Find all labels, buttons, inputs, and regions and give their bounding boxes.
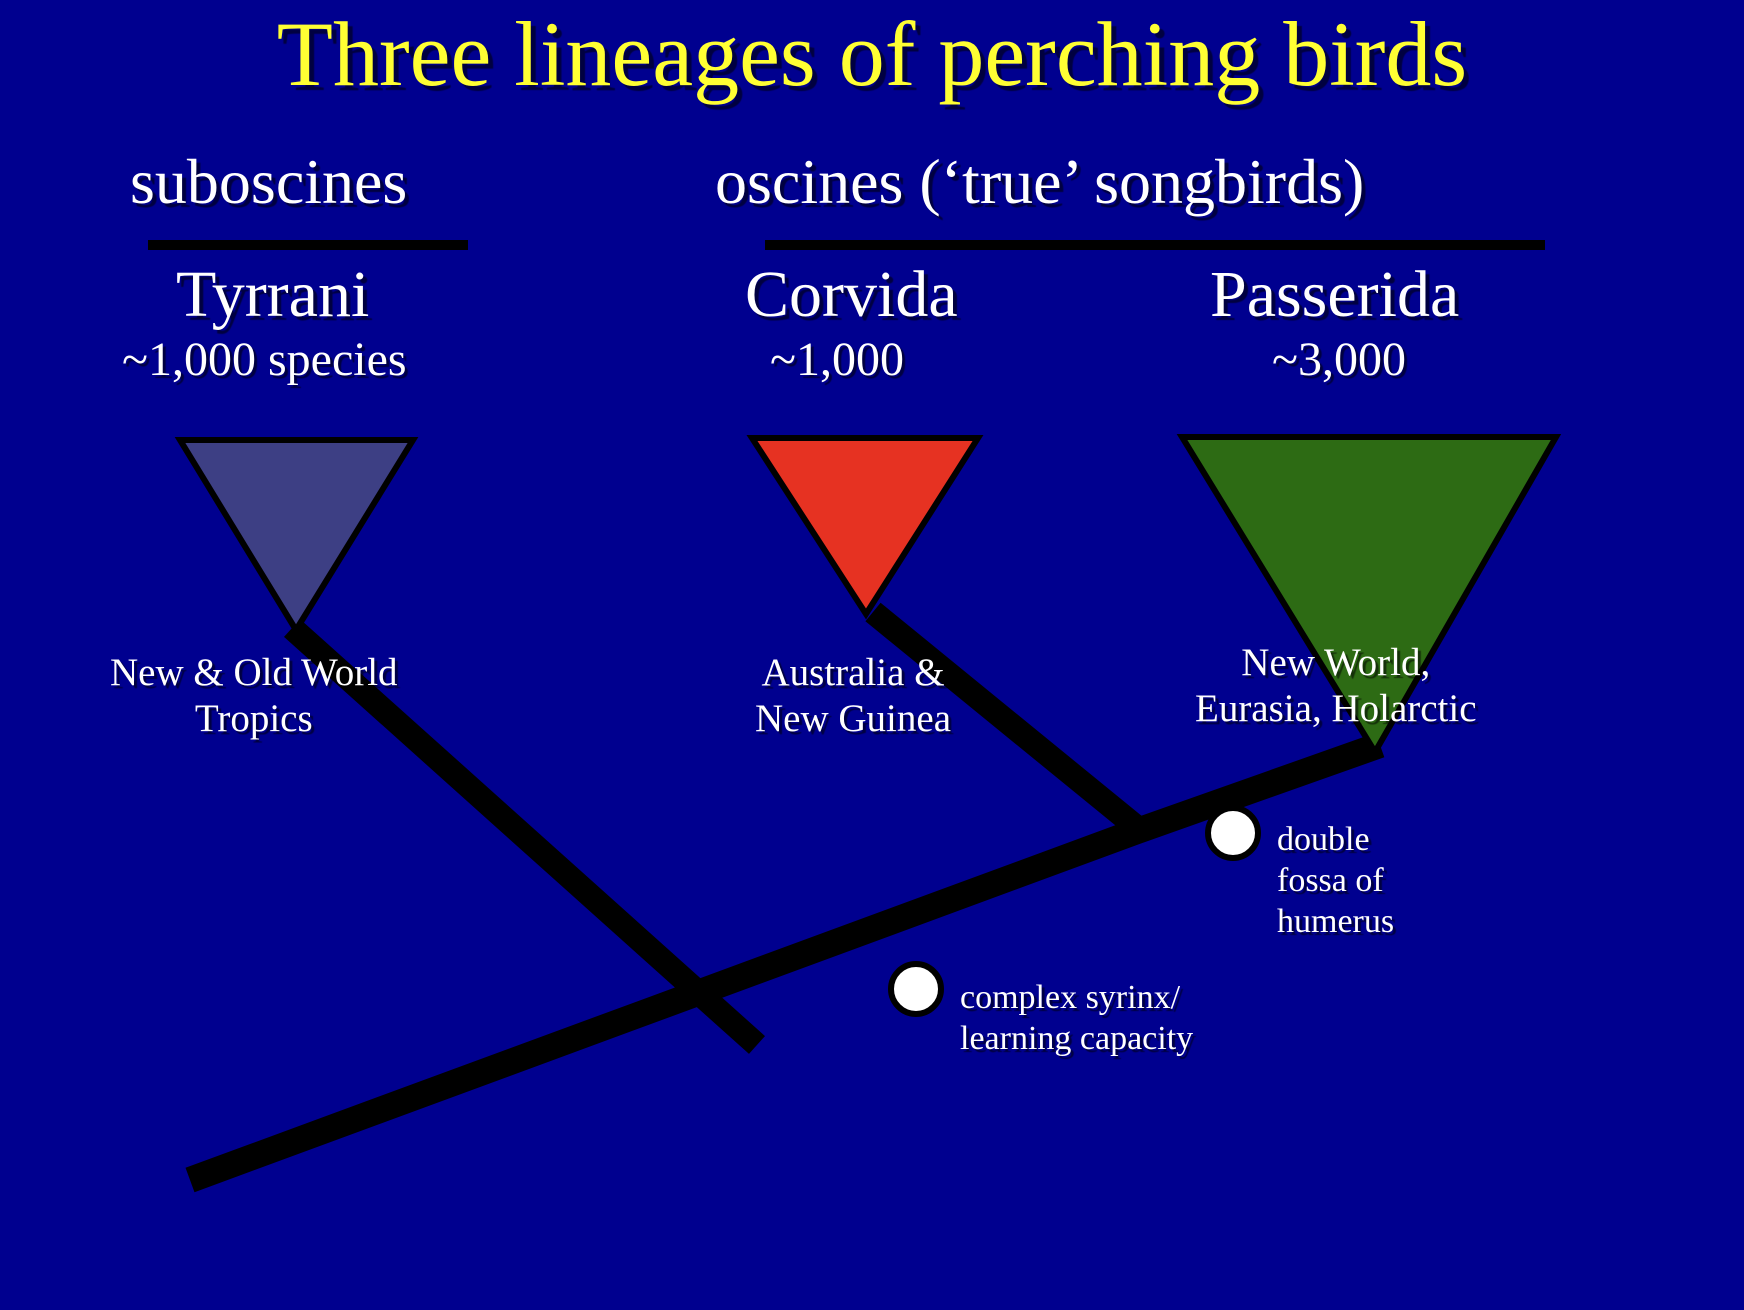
- region-line: Eurasia, Holarctic: [1195, 686, 1477, 732]
- node-annotation-humerus: double fossa of humerus: [1277, 820, 1394, 942]
- region-label-passerida: New World, Eurasia, Holarctic: [1195, 640, 1477, 732]
- clade-triangle-corvida: [752, 438, 978, 614]
- node-annotation-line: learning capacity: [960, 1019, 1193, 1060]
- clade-count-passerida: ~3,000: [1272, 336, 1406, 384]
- node-marker-humerus: [1208, 808, 1258, 858]
- region-line: New World,: [1195, 640, 1477, 686]
- region-line: New Guinea: [755, 696, 951, 742]
- clade-name-tyrrani: Tyrrani: [176, 262, 369, 328]
- node-annotation-line: humerus: [1277, 902, 1394, 943]
- clade-name-passerida: Passerida: [1210, 262, 1459, 328]
- region-line: New & Old World: [110, 650, 398, 696]
- node-annotation-line: double: [1277, 820, 1394, 861]
- region-label-tyrrani: New & Old World Tropics: [110, 650, 398, 742]
- clade-triangle-tyrrani: [180, 440, 413, 630]
- clade-count-tyrrani: ~1,000 species: [122, 336, 407, 384]
- region-label-corvida: Australia & New Guinea: [755, 650, 951, 742]
- node-annotation-line: fossa of: [1277, 861, 1394, 902]
- node-annotation-syrinx: complex syrinx/ learning capacity: [960, 978, 1193, 1060]
- slide-canvas: Three lineages of perching birds subosci…: [0, 0, 1744, 1310]
- node-marker-syrinx: [891, 964, 941, 1014]
- clade-count-corvida: ~1,000: [770, 336, 904, 384]
- region-line: Australia &: [755, 650, 951, 696]
- region-line: Tropics: [110, 696, 398, 742]
- branch-trunk: [190, 745, 1380, 1180]
- clade-name-corvida: Corvida: [745, 262, 958, 328]
- node-annotation-line: complex syrinx/: [960, 978, 1193, 1019]
